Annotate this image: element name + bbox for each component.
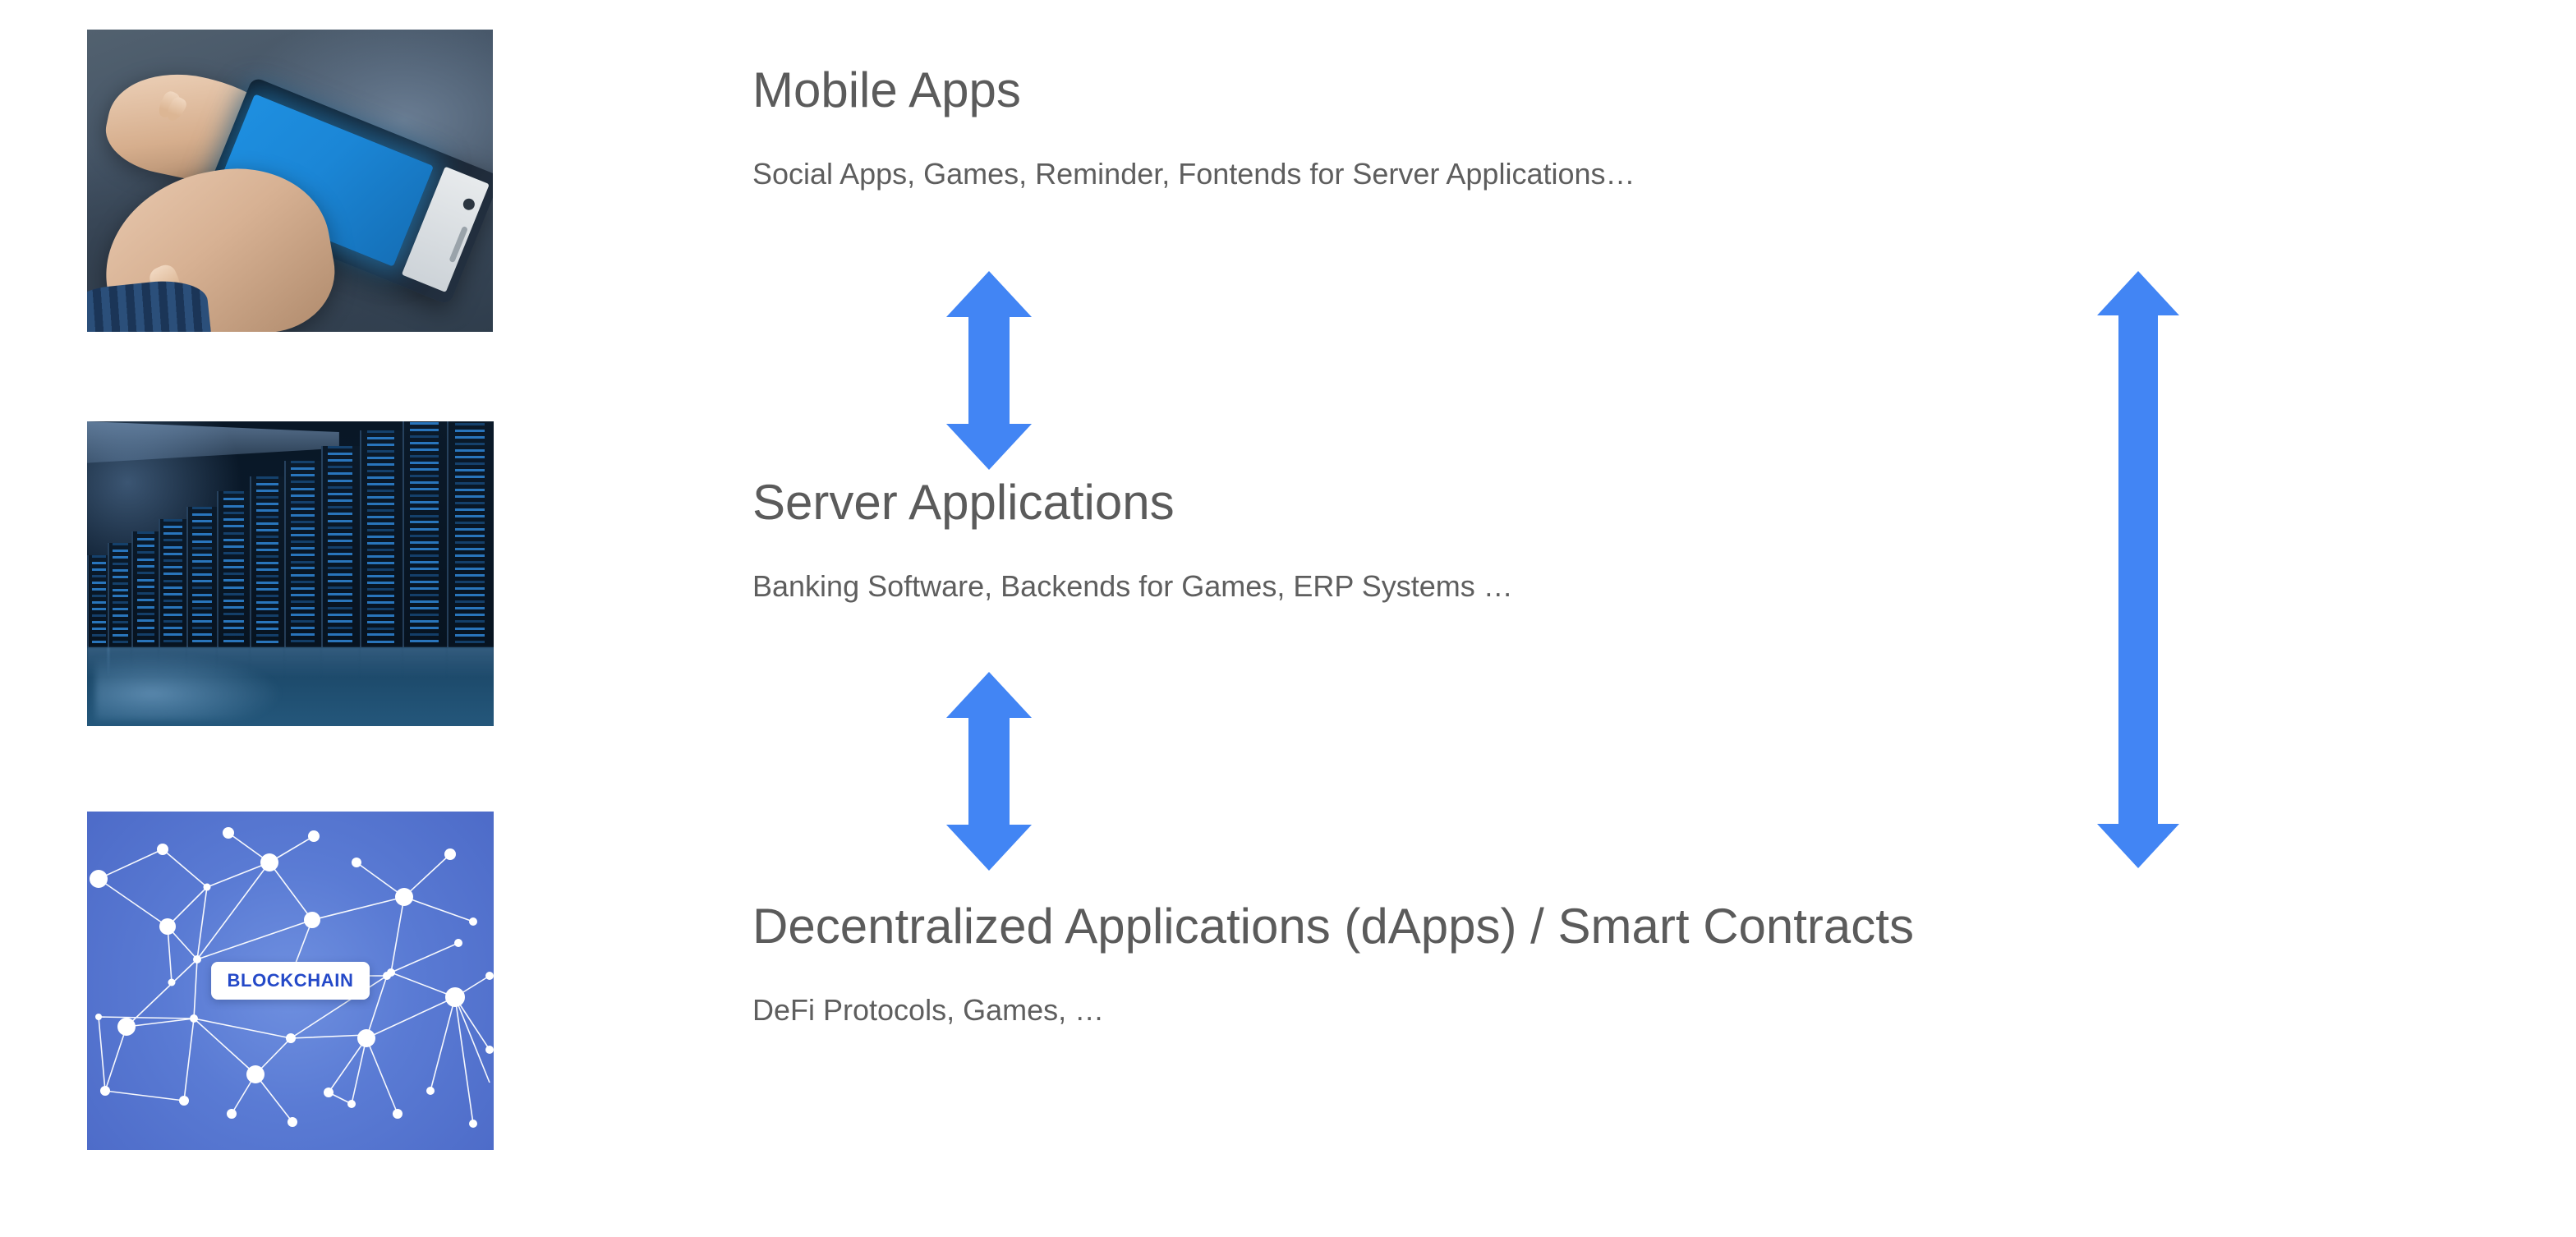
- server-rack: [360, 430, 405, 646]
- subtext-server-applications: Banking Software, Backends for Games, ER…: [752, 568, 1513, 604]
- thumbnail-decentralized-applications[interactable]: BLOCKCHAIN: [87, 812, 494, 1150]
- rack-floor-reflection: [131, 647, 158, 678]
- server-rack: [447, 421, 494, 647]
- thumbnail-server-applications[interactable]: [87, 421, 494, 726]
- thumbnail-mobile-apps[interactable]: [87, 30, 493, 332]
- server-rack: [131, 531, 160, 647]
- rack-floor-reflection: [159, 647, 187, 678]
- subtext-mobile-apps: Social Apps, Games, Reminder, Fontends f…: [752, 156, 1635, 191]
- arrow-mobile-to-dapps: [2097, 271, 2179, 868]
- speaker-grille: [448, 226, 468, 263]
- section-server-applications: Server Applications Banking Software, Ba…: [752, 476, 1513, 604]
- rack-floor-reflection: [186, 647, 217, 678]
- server-rack: [108, 543, 135, 646]
- arrow-server-to-dapps: [946, 672, 1032, 871]
- rack-floor-reflection: [284, 647, 321, 678]
- section-mobile-apps: Mobile Apps Social Apps, Games, Reminder…: [752, 64, 1635, 191]
- rack-floor-reflection: [321, 647, 360, 678]
- rack-floor-reflection: [108, 647, 132, 678]
- server-rack: [321, 446, 362, 647]
- arrow-mobile-to-server: [946, 271, 1032, 470]
- blockchain-label: BLOCKCHAIN: [211, 962, 370, 1000]
- rack-floor-reflection: [87, 647, 109, 678]
- server-rack: [217, 491, 252, 646]
- section-decentralized-applications: Decentralized Applications (dApps) / Sma…: [752, 900, 1914, 1028]
- heading-server-applications: Server Applications: [752, 476, 1513, 529]
- rack-floor-reflection: [402, 647, 447, 678]
- server-rack: [159, 519, 190, 647]
- rack-floor-reflection: [447, 647, 494, 678]
- server-rack: [186, 507, 219, 647]
- server-rack: [250, 476, 287, 647]
- rack-floor-reflection: [360, 647, 402, 678]
- server-rack: [284, 461, 324, 646]
- heading-decentralized-applications: Decentralized Applications (dApps) / Sma…: [752, 900, 1914, 953]
- server-rack: [402, 421, 449, 647]
- camera-icon: [461, 196, 476, 211]
- subtext-decentralized-applications: DeFi Protocols, Games, …: [752, 992, 1914, 1028]
- rack-floor-reflection: [217, 647, 250, 678]
- slide-canvas: BLOCKCHAIN Mobile Apps Social Apps, Game…: [0, 0, 2576, 1237]
- blockchain-label-text: BLOCKCHAIN: [228, 970, 354, 991]
- rack-floor-reflection: [250, 647, 284, 678]
- heading-mobile-apps: Mobile Apps: [752, 64, 1635, 117]
